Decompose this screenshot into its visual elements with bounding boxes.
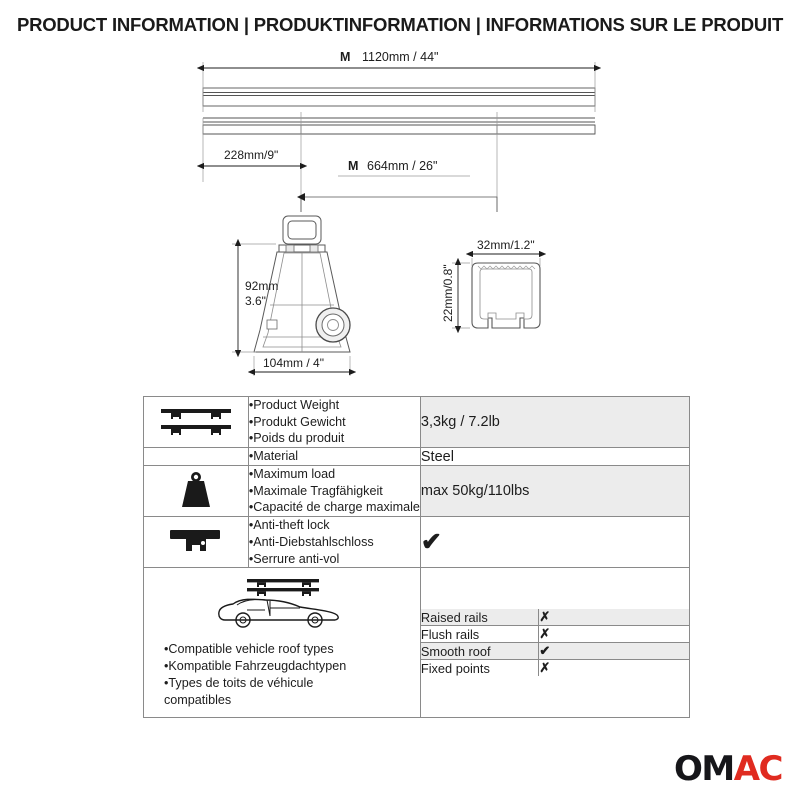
dim-foot-height-line1: 92mm bbox=[245, 279, 278, 293]
material-label: •Material bbox=[248, 448, 420, 466]
lock-icon-cell bbox=[144, 517, 249, 568]
roof-type-label: Smooth roof bbox=[421, 643, 539, 660]
label-de: •Anti-Diebstahlschloss bbox=[249, 534, 420, 551]
material-icon-cell bbox=[144, 448, 249, 466]
dim-end-offset-value: 228mm/9" bbox=[224, 148, 278, 162]
dim-foot-height-line2: 3.6" bbox=[245, 294, 266, 308]
lock-icon bbox=[166, 547, 226, 561]
dim-bar-length-value: 1120mm / 44" bbox=[362, 50, 438, 64]
weight-icon bbox=[175, 499, 217, 513]
label-de: •Produkt Gewicht bbox=[249, 414, 420, 431]
specification-table: •Product Weight •Produkt Gewicht •Poids … bbox=[143, 396, 690, 718]
label-en: •Material bbox=[249, 448, 420, 465]
dim-bar-length-prefix: M bbox=[340, 50, 350, 64]
roof-type-label: Fixed points bbox=[421, 660, 539, 677]
label-de: •Kompatible Fahrzeugdachtypen bbox=[164, 658, 416, 675]
weight-icon-cell bbox=[144, 465, 249, 516]
label-en: •Maximum load bbox=[249, 466, 420, 483]
dim-foot-spacing-prefix: M bbox=[348, 159, 358, 173]
label-fr: •Serrure anti-vol bbox=[249, 551, 420, 568]
product-weight-value: 3,3kg / 7.2lb bbox=[420, 397, 689, 448]
table-row: •Anti-theft lock •Anti-Diebstahlschloss … bbox=[144, 517, 690, 568]
table-row: •Maximum load •Maximale Tragfähigkeit •C… bbox=[144, 465, 690, 516]
label-fr: •Poids du produit bbox=[249, 430, 420, 447]
dim-foot-spacing-value: 664mm / 26" bbox=[367, 159, 437, 173]
omac-logo: OMAC bbox=[674, 752, 782, 786]
label-en: •Product Weight bbox=[249, 397, 420, 414]
table-row-compatibility: •Compatible vehicle roof types •Kompatib… bbox=[144, 568, 690, 718]
label-fr: •Types de toits de véhicule bbox=[164, 675, 416, 692]
roof-type-mark: ✗ bbox=[539, 660, 689, 677]
dim-profile-height-value: 22mm/0.8" bbox=[441, 264, 455, 322]
label-fr: •Capacité de charge maximale bbox=[249, 499, 420, 516]
anti-theft-lock-label: •Anti-theft lock •Anti-Diebstahlschloss … bbox=[248, 517, 420, 568]
logo-text-accent: AC bbox=[734, 749, 782, 789]
roof-type-label: Raised rails bbox=[421, 609, 539, 626]
label-en: •Anti-theft lock bbox=[249, 517, 420, 534]
roof-type-row: Raised rails ✗ bbox=[421, 609, 689, 626]
table-row: •Product Weight •Produkt Gewicht •Poids … bbox=[144, 397, 690, 448]
anti-theft-lock-value: ✔ bbox=[420, 517, 689, 568]
roof-type-table: Raised rails ✗ Flush rails ✗ Smooth roof… bbox=[421, 609, 689, 676]
dim-profile-width-value: 32mm/1.2" bbox=[477, 238, 535, 252]
roof-type-mark: ✗ bbox=[539, 609, 689, 626]
roof-type-mark: ✗ bbox=[539, 626, 689, 643]
compatibility-labels: •Compatible vehicle roof types •Kompatib… bbox=[148, 641, 416, 709]
roof-type-row: Flush rails ✗ bbox=[421, 626, 689, 643]
material-value: Steel bbox=[420, 448, 689, 466]
product-information-page: PRODUCT INFORMATION | PRODUKTINFORMATION… bbox=[0, 0, 800, 800]
car-with-rack-icon bbox=[207, 623, 357, 637]
roof-bars-icon bbox=[159, 429, 233, 443]
maximum-load-label: •Maximum load •Maximale Tragfähigkeit •C… bbox=[248, 465, 420, 516]
label-de: •Maximale Tragfähigkeit bbox=[249, 483, 420, 500]
compatibility-label-cell: •Compatible vehicle roof types •Kompatib… bbox=[144, 568, 421, 718]
dim-foot-width-value: 104mm / 4" bbox=[263, 356, 324, 370]
roof-type-list-cell: Raised rails ✗ Flush rails ✗ Smooth roof… bbox=[420, 568, 689, 718]
product-weight-label: •Product Weight •Produkt Gewicht •Poids … bbox=[248, 397, 420, 448]
logo-text-dark: OM bbox=[674, 749, 734, 789]
table-row: •Material Steel bbox=[144, 448, 690, 466]
label-en: •Compatible vehicle roof types bbox=[164, 641, 416, 658]
roof-bars-icon-cell bbox=[144, 397, 249, 448]
roof-type-row: Fixed points ✗ bbox=[421, 660, 689, 677]
label-fr-cont: compatibles bbox=[164, 692, 416, 709]
technical-drawing: M 1120mm / 44" 228mm/9" M 664mm / 26" bbox=[0, 0, 800, 395]
roof-type-mark: ✔ bbox=[539, 643, 689, 660]
maximum-load-value: max 50kg/110lbs bbox=[420, 465, 689, 516]
roof-type-row: Smooth roof ✔ bbox=[421, 643, 689, 660]
roof-type-label: Flush rails bbox=[421, 626, 539, 643]
